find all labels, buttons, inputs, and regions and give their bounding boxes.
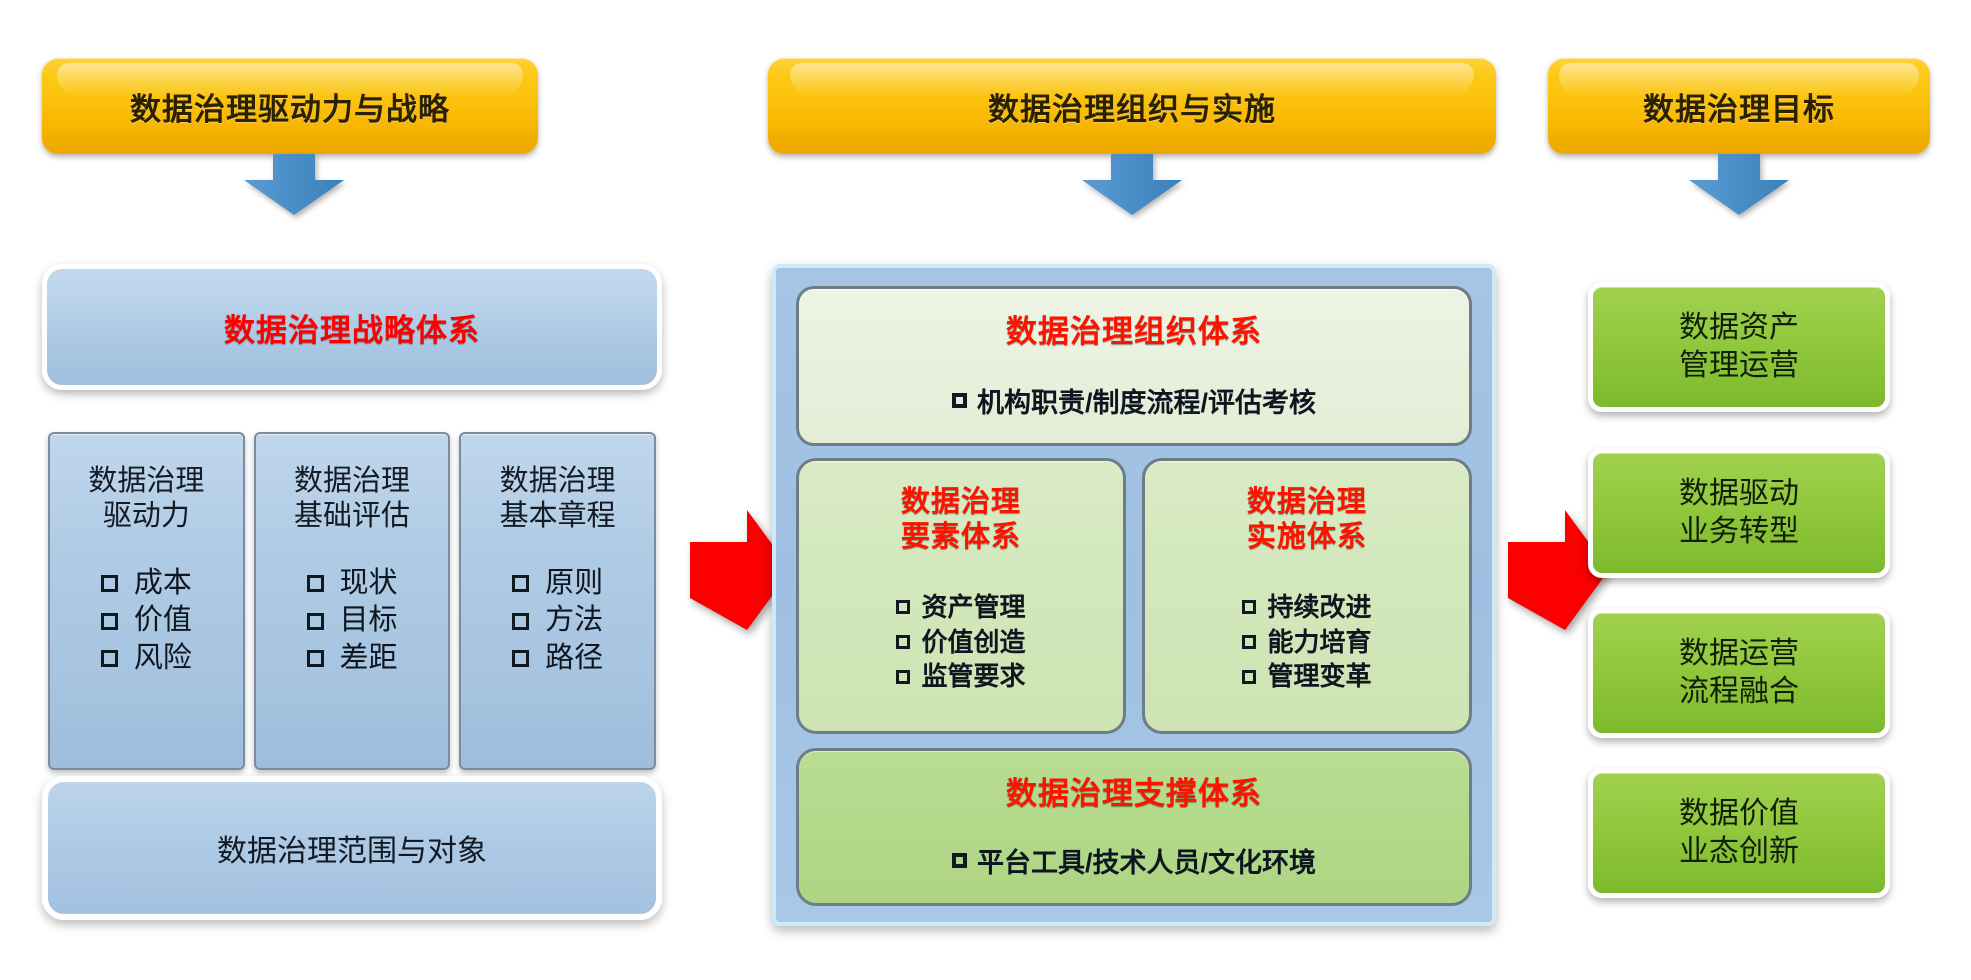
right-goal-business-transformation-text: 数据驱动 业务转型 — [1679, 475, 1799, 551]
checkbox-icon — [512, 650, 529, 667]
list-item-label: 持续改进 — [1267, 590, 1371, 625]
right-goal-asset-management-text: 数据资产 管理运营 — [1679, 309, 1799, 385]
checkbox-icon — [101, 650, 118, 667]
left-card-baseline-assessment[interactable]: 数据治理 基础评估 现状 目标 差距 — [254, 432, 451, 770]
checkbox-icon — [896, 670, 910, 684]
right-goal-value-innovation-text: 数据价值 业态创新 — [1679, 795, 1799, 871]
list-item[interactable]: 差距 — [307, 640, 398, 678]
left-card-drivers-title-line1: 数据治理 — [88, 464, 204, 499]
middle-support-system-box[interactable]: 数据治理支撑体系 平台工具/技术人员/文化环境 — [796, 748, 1472, 906]
left-card-drivers-list: 成本 价值 风险 — [101, 565, 192, 678]
middle-org-system-box[interactable]: 数据治理组织体系 机构职责/制度流程/评估考核 — [796, 286, 1472, 446]
right-goal-asset-management-line1: 数据资产 — [1679, 309, 1799, 347]
left-scope-label: 数据治理范围与对象 — [217, 826, 487, 870]
list-item-label: 能力培育 — [1267, 625, 1371, 660]
middle-implementation-system-box[interactable]: 数据治理 实施体系 持续改进 能力培育 管理变革 — [1142, 458, 1472, 734]
left-strategy-title: 数据治理战略体系 — [224, 305, 480, 350]
list-item[interactable]: 原则 — [512, 565, 603, 603]
list-item-label: 差距 — [340, 640, 398, 678]
middle-support-title: 数据治理支撑体系 — [1006, 775, 1262, 813]
list-item[interactable]: 监管要求 — [896, 659, 1025, 694]
checkbox-icon — [307, 613, 324, 630]
checkbox-icon — [512, 575, 529, 592]
right-goal-process-integration-text: 数据运营 流程融合 — [1679, 635, 1799, 711]
left-card-drivers-title-line2: 驱动力 — [88, 499, 204, 534]
list-item-label: 目标 — [340, 602, 398, 640]
middle-elements-system-box[interactable]: 数据治理 要素体系 资产管理 价值创造 监管要求 — [796, 458, 1126, 734]
checkbox-icon — [307, 575, 324, 592]
header-left-drivers-strategy[interactable]: 数据治理驱动力与战略 — [42, 58, 538, 154]
list-item[interactable]: 风险 — [101, 640, 192, 678]
right-goal-business-transformation-line1: 数据驱动 — [1679, 475, 1799, 513]
right-goal-value-innovation-line1: 数据价值 — [1679, 795, 1799, 833]
middle-org-title: 数据治理组织体系 — [1006, 313, 1262, 351]
checkbox-icon — [896, 600, 910, 614]
list-item[interactable]: 价值创造 — [896, 625, 1025, 660]
left-card-charter-title: 数据治理 基本章程 — [500, 464, 616, 535]
list-item[interactable]: 管理变革 — [1242, 659, 1371, 694]
down-arrow-right — [1685, 154, 1793, 216]
left-card-drivers[interactable]: 数据治理 驱动力 成本 价值 风险 — [48, 432, 245, 770]
left-card-baseline-title-line1: 数据治理 — [294, 464, 410, 499]
right-goal-process-integration-line2: 流程融合 — [1679, 673, 1799, 711]
checkbox-icon — [307, 650, 324, 667]
right-goal-process-integration[interactable]: 数据运营 流程融合 — [1588, 608, 1890, 738]
list-item[interactable]: 方法 — [512, 602, 603, 640]
checkbox-icon — [952, 853, 967, 868]
list-item[interactable]: 资产管理 — [896, 590, 1025, 625]
checkbox-icon — [1242, 670, 1256, 684]
checkbox-icon — [896, 635, 910, 649]
list-item-label: 成本 — [134, 565, 192, 603]
list-item-label: 方法 — [545, 602, 603, 640]
list-item[interactable]: 现状 — [307, 565, 398, 603]
middle-implementation-title-line2: 实施体系 — [1247, 520, 1367, 555]
middle-org-item-label: 机构职责/制度流程/评估考核 — [977, 381, 1316, 420]
list-item[interactable]: 路径 — [512, 640, 603, 678]
left-card-charter-title-line2: 基本章程 — [500, 499, 616, 534]
right-goal-value-innovation[interactable]: 数据价值 业态创新 — [1588, 768, 1890, 898]
middle-implementation-title-line1: 数据治理 — [1247, 485, 1367, 520]
list-item-label: 路径 — [545, 640, 603, 678]
list-item-label: 原则 — [545, 565, 603, 603]
middle-support-item[interactable]: 平台工具/技术人员/文化环境 — [952, 841, 1316, 880]
header-right-goals[interactable]: 数据治理目标 — [1548, 58, 1930, 154]
list-item[interactable]: 持续改进 — [1242, 590, 1371, 625]
right-goal-asset-management[interactable]: 数据资产 管理运营 — [1588, 282, 1890, 412]
left-card-charter-title-line1: 数据治理 — [500, 464, 616, 499]
middle-elements-title-line1: 数据治理 — [901, 485, 1021, 520]
left-card-charter-list: 原则 方法 路径 — [512, 565, 603, 678]
left-card-baseline-list: 现状 目标 差距 — [307, 565, 398, 678]
list-item[interactable]: 价值 — [101, 602, 192, 640]
list-item[interactable]: 成本 — [101, 565, 192, 603]
header-left-label: 数据治理驱动力与战略 — [130, 84, 450, 129]
list-item-label: 价值 — [134, 602, 192, 640]
checkbox-icon — [1242, 600, 1256, 614]
list-item-label: 监管要求 — [921, 659, 1025, 694]
checkbox-icon — [101, 613, 118, 630]
left-card-drivers-title: 数据治理 驱动力 — [88, 464, 204, 535]
middle-support-item-label: 平台工具/技术人员/文化环境 — [977, 841, 1316, 880]
left-card-group: 数据治理 驱动力 成本 价值 风险 数据治理 基础评估 现状 目标 差距 数据治… — [48, 432, 656, 770]
middle-implementation-list: 持续改进 能力培育 管理变革 — [1242, 590, 1371, 694]
diagram-canvas: 数据治理驱动力与战略 数据治理战略体系 数据治理 驱动力 成本 价值 风险 — [0, 0, 1971, 980]
right-goal-value-innovation-line2: 业态创新 — [1679, 833, 1799, 871]
list-item-label: 管理变革 — [1267, 659, 1371, 694]
middle-elements-list: 资产管理 价值创造 监管要求 — [896, 590, 1025, 694]
checkbox-icon — [512, 613, 529, 630]
list-item[interactable]: 能力培育 — [1242, 625, 1371, 660]
list-item[interactable]: 目标 — [307, 602, 398, 640]
checkbox-icon — [952, 393, 967, 408]
checkbox-icon — [1242, 635, 1256, 649]
middle-org-item[interactable]: 机构职责/制度流程/评估考核 — [952, 381, 1316, 420]
middle-elements-title-line2: 要素体系 — [901, 520, 1021, 555]
middle-elements-title: 数据治理 要素体系 — [901, 485, 1021, 556]
down-arrow-middle — [1078, 154, 1186, 216]
right-goal-business-transformation-line2: 业务转型 — [1679, 513, 1799, 551]
list-item-label: 价值创造 — [921, 625, 1025, 660]
checkbox-icon — [101, 575, 118, 592]
right-goal-business-transformation[interactable]: 数据驱动 业务转型 — [1588, 448, 1890, 578]
header-right-label: 数据治理目标 — [1643, 84, 1835, 129]
list-item-label: 现状 — [340, 565, 398, 603]
header-middle-label: 数据治理组织与实施 — [988, 84, 1276, 129]
left-card-baseline-title-line2: 基础评估 — [294, 499, 410, 534]
list-item-label: 风险 — [134, 640, 192, 678]
left-strategy-box[interactable]: 数据治理战略体系 — [42, 264, 662, 390]
left-card-baseline-title: 数据治理 基础评估 — [294, 464, 410, 535]
left-card-charter[interactable]: 数据治理 基本章程 原则 方法 路径 — [459, 432, 656, 770]
header-middle-org-implementation[interactable]: 数据治理组织与实施 — [768, 58, 1496, 154]
list-item-label: 资产管理 — [921, 590, 1025, 625]
down-arrow-left — [240, 154, 348, 216]
middle-implementation-title: 数据治理 实施体系 — [1247, 485, 1367, 556]
right-goal-asset-management-line2: 管理运营 — [1679, 347, 1799, 385]
left-scope-box[interactable]: 数据治理范围与对象 — [42, 776, 662, 920]
right-goal-process-integration-line1: 数据运营 — [1679, 635, 1799, 673]
